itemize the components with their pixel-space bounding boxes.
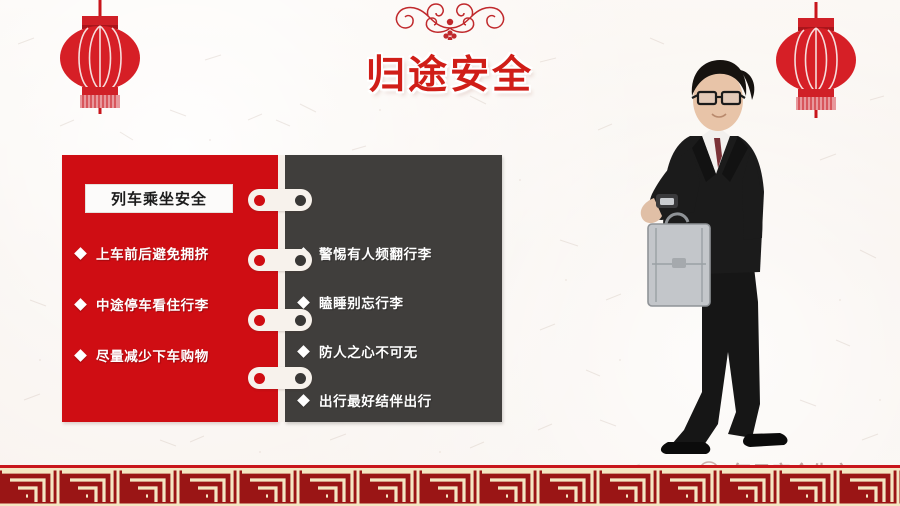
list-item: 中途停车看住行李 bbox=[76, 294, 209, 314]
connector-dot-dark bbox=[295, 315, 306, 326]
list-item-label: 尽量减少下车购物 bbox=[96, 345, 209, 365]
list-item-label: 瞌睡别忘行李 bbox=[319, 292, 404, 312]
panel-red-header: 列车乘坐安全 bbox=[85, 184, 233, 213]
diamond-bullet-icon bbox=[297, 345, 310, 358]
diamond-bullet-icon bbox=[74, 298, 87, 311]
list-item: 尽量减少下车购物 bbox=[76, 345, 209, 365]
diamond-bullet-icon bbox=[297, 296, 310, 309]
connector-dot-red bbox=[254, 255, 265, 266]
bottom-border-pattern bbox=[0, 465, 900, 506]
list-item-label: 出行最好结伴出行 bbox=[319, 390, 432, 410]
panel-red-items: 上车前后避免拥挤 中途停车看住行李 尽量减少下车购物 bbox=[76, 243, 209, 396]
list-item: 出行最好结伴出行 bbox=[299, 390, 432, 410]
list-item: 上车前后避免拥挤 bbox=[76, 243, 209, 263]
list-item-label: 中途停车看住行李 bbox=[96, 294, 209, 314]
connector-dot-red bbox=[254, 195, 265, 206]
panel-connector bbox=[248, 249, 312, 271]
list-item: 防人之心不可无 bbox=[299, 341, 432, 361]
panel-connector bbox=[248, 189, 312, 211]
panel-connector bbox=[248, 367, 312, 389]
connector-dot-red bbox=[254, 315, 265, 326]
diamond-bullet-icon bbox=[74, 349, 87, 362]
connector-dot-dark bbox=[295, 195, 306, 206]
meander-pattern-icon bbox=[0, 468, 900, 506]
panel-dark-items: 警惕有人频翻行李 瞌睡别忘行李 防人之心不可无 出行最好结伴出行 bbox=[299, 243, 432, 439]
connector-dot-dark bbox=[295, 255, 306, 266]
businessman-photo bbox=[632, 52, 816, 456]
connector-dot-red bbox=[254, 373, 265, 384]
panel-dark: 警惕有人频翻行李 瞌睡别忘行李 防人之心不可无 出行最好结伴出行 bbox=[285, 155, 502, 422]
diamond-bullet-icon bbox=[297, 394, 310, 407]
slide-canvas: 归途安全 bbox=[0, 0, 900, 506]
panel-connector bbox=[248, 309, 312, 331]
list-item-label: 警惕有人频翻行李 bbox=[319, 243, 432, 263]
diamond-bullet-icon bbox=[74, 247, 87, 260]
list-item-label: 上车前后避免拥挤 bbox=[96, 243, 209, 263]
connector-dot-dark bbox=[295, 373, 306, 384]
panel-red: 列车乘坐安全 上车前后避免拥挤 中途停车看住行李 尽量减少下车购物 bbox=[62, 155, 278, 422]
scroll-ornament-icon bbox=[378, 0, 522, 40]
list-item: 瞌睡别忘行李 bbox=[299, 292, 432, 312]
list-item: 警惕有人频翻行李 bbox=[299, 243, 432, 263]
list-item-label: 防人之心不可无 bbox=[319, 341, 418, 361]
